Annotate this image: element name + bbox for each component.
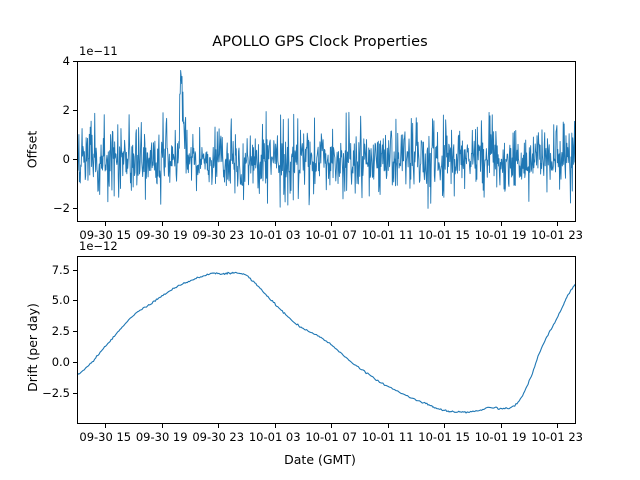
y-tick-mark	[73, 362, 77, 363]
x-tick-label: 10-01 23	[531, 228, 583, 242]
y-tick-mark	[73, 110, 77, 111]
x-tick-mark	[388, 222, 389, 226]
x-tick-mark	[162, 222, 163, 226]
x-tick-label: 09-30 23	[192, 430, 244, 444]
x-tick-mark	[501, 222, 502, 226]
y-tick-label: 5.0	[0, 293, 70, 307]
x-tick-label: 09-30 19	[136, 430, 188, 444]
y-tick-label: −2	[0, 201, 70, 215]
x-tick-mark	[388, 424, 389, 428]
x-tick-label: 10-01 11	[362, 228, 414, 242]
x-tick-mark	[557, 222, 558, 226]
x-tick-label: 10-01 19	[475, 430, 527, 444]
y-tick-label: −2.5	[0, 386, 70, 400]
y-tick-mark	[73, 393, 77, 394]
x-tick-mark	[557, 424, 558, 428]
x-tick-mark	[331, 222, 332, 226]
offset-plot-area	[77, 61, 576, 222]
y-tick-mark	[73, 270, 77, 271]
x-tick-label: 10-01 07	[305, 228, 357, 242]
offset-series-line	[78, 62, 575, 221]
x-tick-label: 10-01 07	[305, 430, 357, 444]
x-tick-mark	[331, 424, 332, 428]
x-tick-label: 10-01 15	[418, 228, 470, 242]
x-tick-mark	[444, 222, 445, 226]
y-tick-label: 0.0	[0, 355, 70, 369]
x-tick-mark	[162, 424, 163, 428]
x-tick-label: 10-01 19	[475, 228, 527, 242]
y-tick-mark	[73, 208, 77, 209]
drift-series-line	[78, 257, 575, 423]
x-tick-label: 09-30 23	[192, 228, 244, 242]
x-tick-label: 10-01 23	[531, 430, 583, 444]
drift-plot-area	[77, 256, 576, 424]
x-tick-mark	[275, 222, 276, 226]
x-tick-label: 10-01 11	[362, 430, 414, 444]
y-tick-mark	[73, 159, 77, 160]
drift-axis-exponent-label: 1e−12	[79, 239, 118, 253]
x-tick-mark	[105, 424, 106, 428]
x-tick-mark	[218, 424, 219, 428]
x-tick-label: 09-30 15	[79, 430, 131, 444]
y-tick-label: 4	[0, 54, 70, 68]
x-tick-label: 09-30 19	[136, 228, 188, 242]
x-tick-mark	[501, 424, 502, 428]
x-tick-mark	[275, 424, 276, 428]
y-tick-label: 2.5	[0, 324, 70, 338]
x-tick-mark	[105, 222, 106, 226]
y-tick-mark	[73, 300, 77, 301]
y-tick-label: 0	[0, 152, 70, 166]
x-axis-label: Date (GMT)	[0, 452, 640, 467]
x-tick-label: 10-01 03	[249, 228, 301, 242]
y-tick-mark	[73, 331, 77, 332]
y-tick-label: 2	[0, 103, 70, 117]
x-tick-mark	[218, 222, 219, 226]
y-tick-mark	[73, 61, 77, 62]
x-tick-label: 10-01 15	[418, 430, 470, 444]
matplotlib-figure: APOLLO GPS Clock Properties 1e−11 Offset…	[0, 0, 640, 480]
x-tick-mark	[444, 424, 445, 428]
x-tick-label: 10-01 03	[249, 430, 301, 444]
y-tick-label: 7.5	[0, 263, 70, 277]
offset-axis-exponent-label: 1e−11	[79, 44, 118, 58]
